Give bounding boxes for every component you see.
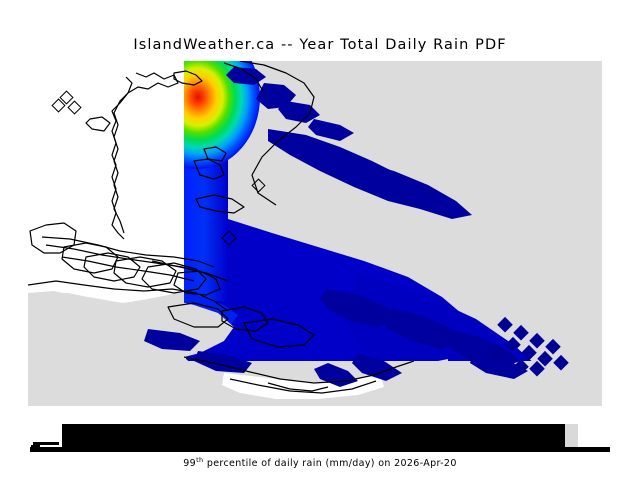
mainland-gray <box>242 61 602 269</box>
caption-percentile-number: 99 <box>183 458 196 469</box>
colorbar-tick-left-lower <box>31 445 40 448</box>
colorbar-axis-line <box>30 447 610 452</box>
colorbar-over-cap <box>565 424 578 448</box>
colorbar[interactable] <box>62 424 578 448</box>
rainfall-map[interactable] <box>28 61 602 406</box>
colorbar-caption: 99th percentile of daily rain (mm/day) o… <box>0 456 640 469</box>
weather-map-page: IslandWeather.ca -- Year Total Daily Rai… <box>0 0 640 480</box>
map-plot-panel[interactable] <box>28 61 602 406</box>
colorbar-body[interactable] <box>62 424 565 448</box>
page-title: IslandWeather.ca -- Year Total Daily Rai… <box>0 37 640 53</box>
outside-domain-upper <box>28 61 184 303</box>
colorbar-tick-right <box>601 449 609 452</box>
caption-rest: percentile of daily rain (mm/day) on 202… <box>203 458 456 469</box>
